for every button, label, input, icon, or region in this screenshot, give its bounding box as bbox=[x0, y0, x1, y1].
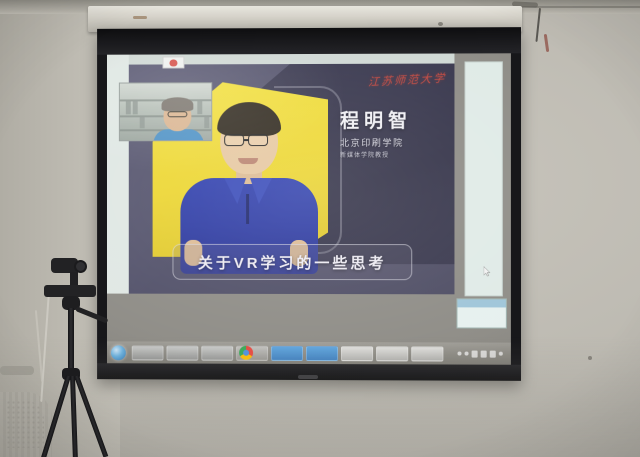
meeting-side-panel[interactable] bbox=[465, 61, 503, 296]
chrome-icon bbox=[239, 346, 253, 360]
tray-network-icon[interactable] bbox=[465, 352, 469, 356]
speaker-name: 程明智 bbox=[340, 112, 452, 132]
webcam-thumbnail[interactable] bbox=[119, 82, 212, 141]
taskbar-item-meeting-2[interactable] bbox=[306, 345, 338, 360]
tray-app-icon[interactable] bbox=[490, 350, 496, 357]
taskbar-item-chrome[interactable] bbox=[236, 345, 268, 360]
camera-cable-1 bbox=[40, 294, 50, 402]
talk-title-box: 关于VR学习的一些思考 bbox=[172, 244, 412, 280]
pip-person-glasses-icon bbox=[167, 111, 187, 117]
projection-screen: 程明智 北京印刷学院 新媒体学院教授 江苏师范大学 关于VR学习的一些思考 bbox=[97, 27, 521, 381]
speaker-hair bbox=[217, 102, 281, 136]
pip-book-4 bbox=[197, 101, 202, 114]
speaker-role: 新媒体学院教授 bbox=[340, 150, 452, 159]
tripod-leg-center bbox=[70, 376, 78, 457]
classroom-scene: 程明智 北京印刷学院 新媒体学院教授 江苏师范大学 关于VR学习的一些思考 bbox=[0, 0, 640, 457]
projected-image-area: 程明智 北京印刷学院 新媒体学院教授 江苏师范大学 关于VR学习的一些思考 bbox=[107, 53, 511, 364]
tripod-leg-right bbox=[74, 375, 108, 457]
popup-title-bar bbox=[457, 299, 505, 307]
speaker-glasses-left-icon bbox=[224, 134, 244, 146]
tray-shield-icon[interactable] bbox=[499, 352, 503, 356]
mouse-cursor-icon bbox=[484, 266, 491, 276]
tray-volume-icon[interactable] bbox=[472, 350, 478, 357]
screen-weight-bar bbox=[298, 375, 318, 379]
camera-mount-neck bbox=[70, 272, 78, 286]
tripod-pan-handle bbox=[75, 306, 108, 323]
speaker-glasses-bridge-icon bbox=[244, 139, 249, 141]
roller-screw bbox=[438, 22, 443, 26]
meeting-app-window: 程明智 北京印刷学院 新媒体学院教授 江苏师范大学 关于VR学习的一些思考 bbox=[107, 53, 511, 342]
pip-book-5 bbox=[204, 117, 209, 128]
taskbar-item-explorer-3[interactable] bbox=[201, 345, 233, 360]
popup-text bbox=[457, 307, 505, 310]
tripod-center-column bbox=[68, 308, 74, 372]
speaker-shirt-placket bbox=[246, 194, 249, 224]
camera-cable-2 bbox=[35, 310, 43, 382]
taskbar-items bbox=[132, 345, 444, 361]
taskbar-item-explorer-2[interactable] bbox=[166, 345, 198, 360]
pip-book-1 bbox=[126, 101, 131, 114]
speaker-mouth bbox=[238, 158, 258, 164]
windows-taskbar[interactable] bbox=[107, 341, 511, 364]
seal-dot bbox=[169, 59, 177, 66]
tripod-leg-left bbox=[41, 375, 71, 457]
camcorder-on-tripod bbox=[34, 258, 130, 457]
red-seal-logo-icon bbox=[163, 56, 185, 68]
roller-scuff bbox=[133, 16, 147, 19]
desktop-background: 程明智 北京印刷学院 新媒体学院教授 江苏师范大学 关于VR学习的一些思考 bbox=[107, 53, 511, 364]
wall-speck bbox=[588, 356, 592, 360]
taskbar-item-explorer-1[interactable] bbox=[132, 345, 164, 360]
taskbar-item-doc-3[interactable] bbox=[411, 346, 443, 361]
talk-title: 关于VR学习的一些思考 bbox=[198, 251, 387, 272]
pip-book-2 bbox=[133, 101, 138, 114]
tray-input-method-icon[interactable] bbox=[481, 350, 487, 357]
system-tray[interactable] bbox=[457, 350, 507, 357]
speaker-organization: 北京印刷学院 bbox=[340, 136, 452, 149]
screen-top-border bbox=[97, 27, 521, 55]
speaker-name-block: 程明智 北京印刷学院 新媒体学院教授 bbox=[340, 112, 452, 159]
screen-bottom-border bbox=[97, 363, 521, 381]
taskbar-item-meeting-1[interactable] bbox=[271, 345, 303, 360]
tray-notification-popup[interactable] bbox=[456, 298, 506, 328]
wall-mounted-bar bbox=[0, 366, 34, 375]
hanging-wire-tail-icon bbox=[544, 34, 549, 52]
pip-book-3 bbox=[140, 117, 145, 128]
tray-overflow-icon[interactable] bbox=[457, 352, 461, 356]
taskbar-item-doc-1[interactable] bbox=[341, 346, 373, 361]
taskbar-item-doc-2[interactable] bbox=[376, 346, 408, 361]
pip-person-hair bbox=[162, 97, 194, 111]
speaker-glasses-right-icon bbox=[248, 134, 268, 146]
